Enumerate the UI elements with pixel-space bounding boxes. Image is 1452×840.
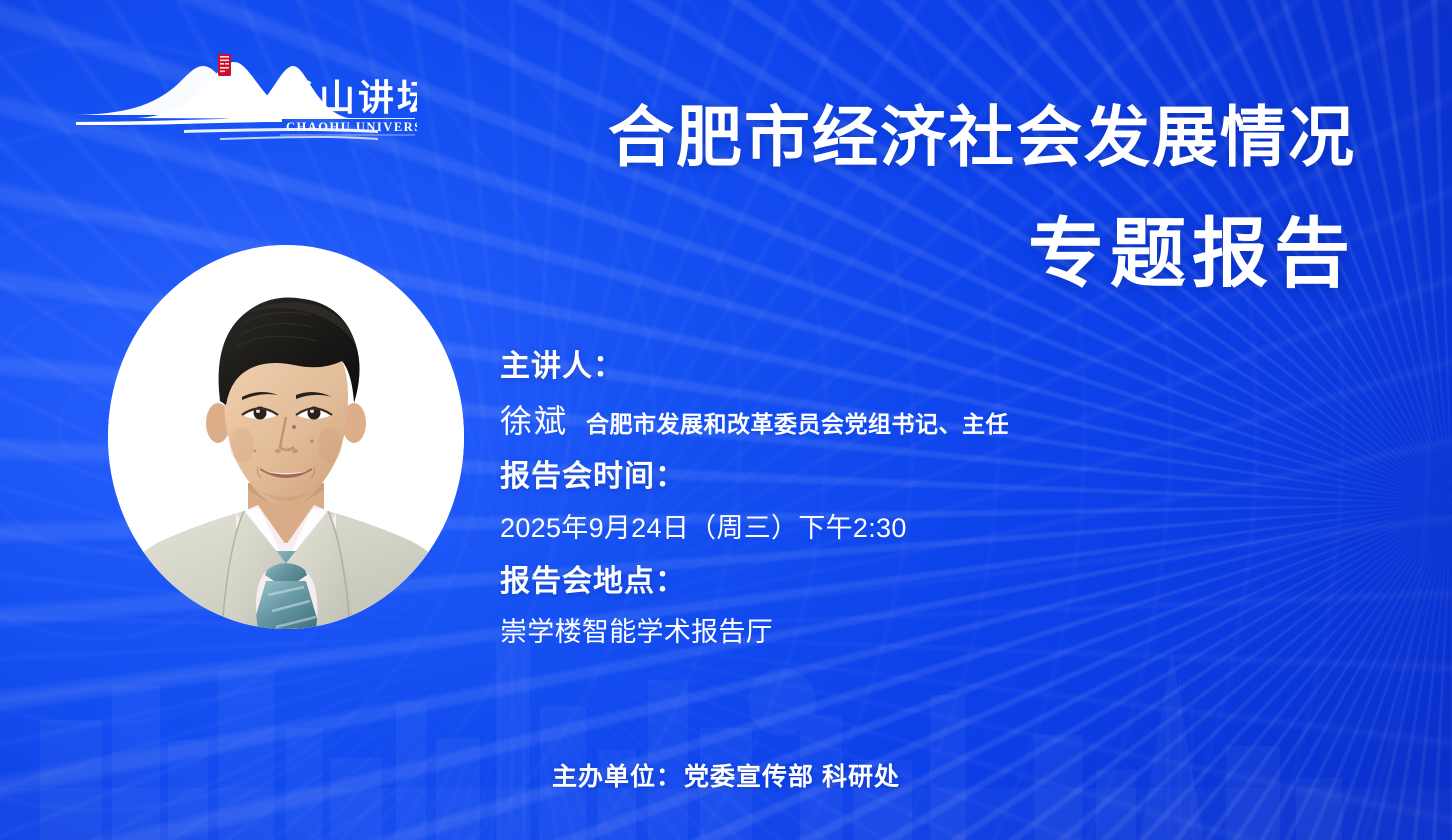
event-details: 主讲人： 徐斌 合肥市发展和改革委员会党组书记、主任 报告会时间： 2025年9… xyxy=(500,348,1009,667)
organizer-names: 党委宣传部 科研处 xyxy=(684,763,900,791)
venue-label: 报告会地点： xyxy=(500,563,1009,601)
chaohu-university-logo: 汤山讲坛 CHAOHU UNIVERSITY xyxy=(72,52,417,144)
speaker-photo xyxy=(108,245,464,629)
title-line-2: 专题报告 xyxy=(608,217,1356,293)
speaker-title: 合肥市发展和改革委员会党组书记、主任 xyxy=(586,405,1009,439)
logo-name-en: CHAOHU UNIVERSITY xyxy=(286,120,417,134)
time-label: 报告会时间： xyxy=(500,458,1009,496)
title-line-1: 合肥市经济社会发展情况 xyxy=(608,104,1356,171)
red-seal-icon xyxy=(218,54,231,76)
speaker-name: 徐斌 xyxy=(500,396,568,442)
logo-name-cn: 汤山讲坛 xyxy=(280,77,417,118)
organizers-footer: 主办单位：党委宣传部 科研处 xyxy=(0,757,1452,793)
speaker-row: 徐斌 合肥市发展和改革委员会党组书记、主任 xyxy=(500,396,1009,442)
venue-value: 崇学楼智能学术报告厅 xyxy=(500,610,1009,649)
speaker-portrait-avatar xyxy=(108,245,464,629)
time-value: 2025年9月24日（周三）下午2:30 xyxy=(500,506,1009,545)
poster-canvas: 汤山讲坛 CHAOHU UNIVERSITY 合肥市经济社会发展情况 专题报告 xyxy=(0,0,1452,840)
speaker-label: 主讲人： xyxy=(500,348,1009,386)
poster-title: 合肥市经济社会发展情况 专题报告 xyxy=(608,104,1356,293)
organizer-label: 主办单位： xyxy=(552,763,682,791)
